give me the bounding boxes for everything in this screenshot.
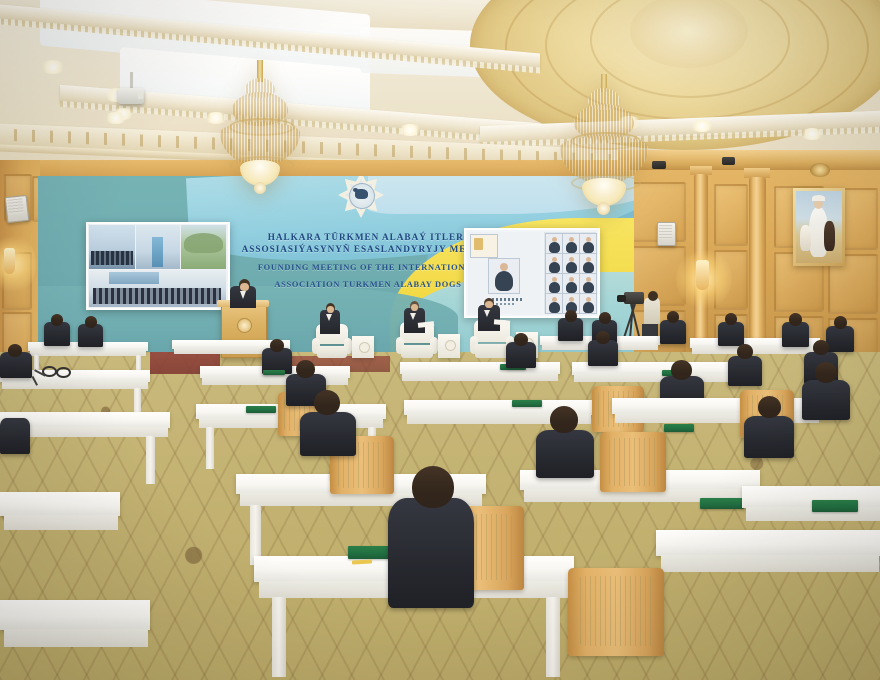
vc-caption-line-2 [496,303,514,305]
vc-person-tile-main [488,258,520,294]
attendee-r3-1-head [296,360,315,378]
downlight-6 [398,124,422,136]
panelist-center-torso [404,308,425,333]
green-folder-r4-2 [700,498,744,509]
podium-emblem [237,318,252,333]
wall-speaker-right-grill [659,225,672,239]
vc-body-12 [583,302,594,313]
conference-hall-photo: HALKARA TÜRKMEN ALABAÝ ITLERI ASSOSIASIÝ… [0,0,880,680]
vc-body-4 [549,262,560,273]
panelist-right-face [485,301,493,308]
attendee-r2-6-head [813,340,829,355]
panelist-right-chair-seat [475,344,509,358]
camera-operator-head [648,291,658,301]
wall-speaker-left-grill [7,198,23,214]
chair-r4-2-pad [609,438,657,486]
vc-body-6 [583,262,594,273]
collage-group-row [93,288,221,304]
vc-body-7 [549,282,560,293]
collage-panel-crowd-ceremony [89,225,135,269]
vc-tile-2 [562,233,580,254]
desk-row5-center-leg-1 [272,597,286,677]
chandelier-left-finial [254,182,266,194]
vc-body-1 [549,242,560,253]
attendee-r1-5-torso [660,320,686,344]
downlight-9 [800,128,824,140]
wall-portrait [793,188,845,266]
vc-body-10 [549,302,560,313]
attendee-r1-6-torso [718,322,744,346]
attendee-r4-1-head [314,390,340,415]
side-table-center-badge [445,340,456,351]
attendee-r1-8-torso [826,326,854,352]
projection-screen-left [86,222,230,310]
camera-operator-torso [644,298,660,324]
vc-tile-5 [562,253,580,274]
collage-panel-hillside [181,225,226,269]
attendee-r5-1-head [412,466,454,508]
panelist-left-torso [320,310,340,334]
attendee-r1-8-head [834,316,847,329]
vc-body-3 [583,242,594,253]
downlight-1 [40,60,66,74]
collage-crowd-row [91,251,133,265]
collage-banner [109,272,159,284]
downlight-8 [690,120,714,132]
video-camera [624,292,644,304]
attendee-r5-1-torso [388,498,474,608]
vc-tile-1 [545,233,563,254]
desk-row2-left-front [2,381,148,389]
panelist-center-face [411,304,418,311]
vc-tile-7 [545,273,563,294]
collage-panel-group-photo [89,270,226,307]
vc-tile-10 [545,293,563,314]
green-folder-r3-2 [512,400,542,407]
panelist-right-torso [478,305,500,331]
desk-row5-left-top [0,492,120,516]
green-folder-r2-1 [263,370,285,375]
vc-body-2 [566,242,577,253]
desk-row2-right-front [402,373,558,381]
vc-tile-6 [579,253,597,274]
desk-row2-far-right-front [574,374,740,382]
desk-row2-center-front [202,377,348,385]
collage-panel-canal [136,225,180,269]
attendee-r3-5-torso [0,418,30,454]
desk-row5-right-front [661,555,879,572]
green-folder-r3-3 [664,424,694,432]
wall-sconce-left [4,248,15,274]
desk-row5-left-front [4,515,118,530]
chandelier-right [554,74,654,220]
vc-doc-icon [474,238,483,250]
vc-body-main [495,271,513,291]
desk-row3-left-leg [146,436,155,484]
attendee-r2-3-head [514,333,528,346]
vc-head-main [500,263,508,271]
green-folder-r3-1 [246,406,276,413]
attendee-r2-5-head [737,344,753,359]
projector-lens [138,92,143,99]
desk-row5-nearest-left-front [4,629,148,647]
attendee-r2-5-torso [728,356,762,386]
attendee-r3-3-head [815,362,837,383]
emblem-dog-head [353,188,358,192]
panelist-left-face [327,306,334,313]
attendee-r1-6-head [725,313,737,325]
green-folder-r4-3 [812,500,858,512]
portrait-canvas [796,191,842,263]
desk-row5-right-top [656,530,880,556]
vc-body-5 [566,262,577,273]
attendee-r1-4-head [599,312,611,324]
desk-row5-center-leg-2 [546,597,560,677]
wall-gold-medallion [810,163,830,177]
chandelier-left [214,60,306,200]
ceiling-speaker-1 [652,161,666,169]
attendee-r1-1-head [51,314,63,326]
wall-column-2 [749,177,766,365]
translation-headset-2 [56,367,71,378]
attendee-r3-3-torso [802,380,850,420]
attendee-r4-2-head [550,406,578,433]
video-camera-lens [617,295,626,302]
attendee-r2-2-head [270,339,284,352]
vc-participant-grid [544,232,596,314]
panelist-center-chair-seat [401,345,433,358]
vc-body-9 [583,282,594,293]
chair-r5-2-pad [580,576,652,646]
attendee-r1-3-head [565,310,577,322]
chair-r4-2 [600,432,666,510]
attendee-r1-2-head [85,316,97,328]
portrait-dog-white [800,225,811,251]
portrait-dog-dark [824,221,835,251]
attendee-r3-2-head [671,360,692,380]
desk-row4-far-right-top [742,486,880,508]
attendee-r3-4-head [758,396,781,418]
collage-canal-water [152,237,163,267]
attendee-r2-4-head [596,331,610,344]
desk-row3-center-leg-1 [206,427,214,469]
desk-row1-left-front [30,350,146,356]
desk-row5-nearest-left-top [0,600,150,630]
vc-tile-3 [579,233,597,254]
turkmen-alabay-association-emblem [338,176,384,218]
vc-tile-8 [562,273,580,294]
chandelier-right-finial [597,202,610,215]
chair-r5-2 [568,568,664,680]
side-table-left-badge [359,342,370,353]
wall-panel-r4 [714,184,748,246]
collage-hill [184,233,223,253]
desk-row1-far-right-front [692,347,818,354]
attendee-r1-5-head [667,311,679,323]
attendee-r2-1-head [8,344,22,357]
vc-tile-4 [545,253,563,274]
portrait-hat [812,195,825,201]
vc-tile-12 [579,293,597,314]
vc-tile-9 [579,273,597,294]
attendee-r3-4-torso [744,416,794,458]
vc-main-region [468,232,542,314]
attendee-r4-2-torso [536,430,594,478]
ceiling-speaker-2 [722,157,735,165]
wall-sconce-right [696,260,709,290]
attendee-r1-7-head [789,313,802,326]
panelist-left-chair-seat [317,346,347,358]
attendee-r4-1-torso [300,412,356,456]
podium-speaker-face [240,283,249,291]
downlight-4 [104,112,128,124]
vc-body-8 [566,282,577,293]
